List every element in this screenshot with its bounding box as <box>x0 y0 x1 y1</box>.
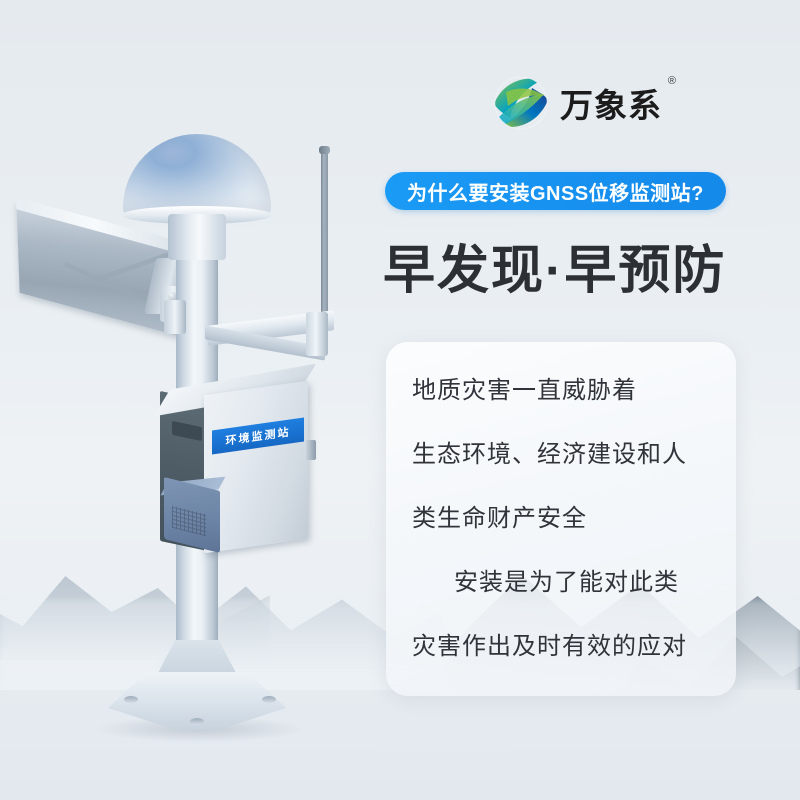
whip-antenna-cap <box>319 146 330 154</box>
enclosure-label-text: 环境监测站 <box>226 423 291 448</box>
description-line: 灾害作出及时有效的应对 <box>412 634 710 660</box>
anchor-hole-icon <box>124 696 138 703</box>
question-banner-text: 为什么要安装GNSS位移监测站? <box>407 177 704 206</box>
brand-name: 万象系 ® <box>560 79 662 127</box>
description-line: 类生命财产安全 <box>412 506 710 532</box>
registered-mark: ® <box>668 75 677 87</box>
description-card: 地质灾害一直威胁着 生态环境、经济建设和人 类生命财产安全 安装是为了能对此类 … <box>386 342 736 696</box>
description-lines: 地质灾害一直威胁着 生态环境、经济建设和人 类生命财产安全 安装是为了能对此类 … <box>386 342 736 696</box>
poster-canvas: 环境监测站 <box>0 0 800 800</box>
question-banner: 为什么要安装GNSS位移监测站? <box>385 172 726 210</box>
brand-logo: 万象系 ® <box>492 70 672 136</box>
whip-antenna-icon <box>321 150 328 326</box>
anchor-hole-icon <box>262 696 276 703</box>
page-title: 早发现·早预防 <box>383 228 726 303</box>
brand-name-text: 万象系 <box>560 87 662 124</box>
description-line: 生态环境、经济建设和人 <box>412 442 710 468</box>
dome-neck <box>168 214 226 260</box>
enclosure-latch-icon <box>306 440 316 460</box>
mast-clamp-upper <box>164 300 186 334</box>
anchor-hole-icon <box>190 718 204 725</box>
cross-arm-end-bracket <box>306 312 328 356</box>
mast-clamp-arm <box>210 296 230 324</box>
globe-swirl-logo-icon <box>492 74 550 132</box>
gnss-monitoring-station-illustration: 环境监测站 <box>0 0 400 800</box>
description-line: 安装是为了能对此类 <box>412 570 710 596</box>
description-line: 地质灾害一直威胁着 <box>412 378 710 404</box>
